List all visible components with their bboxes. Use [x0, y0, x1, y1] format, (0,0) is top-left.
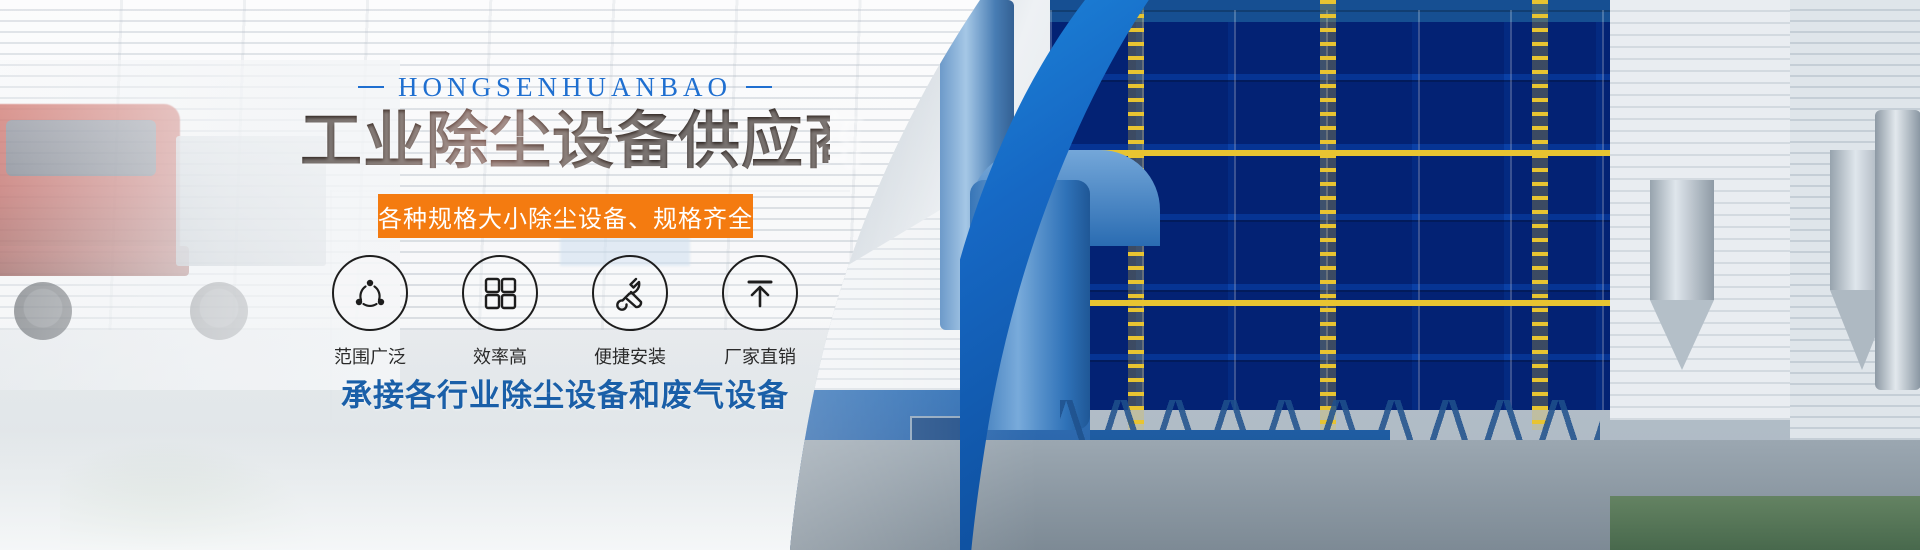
- grid-four-squares-icon: [462, 255, 538, 331]
- eyebrow-dash-right: [746, 86, 772, 88]
- tagline-text: 承接各行业除尘设备和废气设备: [300, 370, 830, 415]
- banner-content: HONGSENHUANBAO 工业除尘设备供应商 各种规格大小除尘设备、规格齐全: [0, 0, 1000, 550]
- feature-label: 厂家直销: [724, 343, 796, 369]
- feature-list: 范围广泛 效率高: [300, 255, 830, 369]
- feature-item-installation[interactable]: 便捷安装: [587, 255, 673, 369]
- wrench-icon: [592, 255, 668, 331]
- eyebrow-dash-left: [358, 86, 384, 88]
- eyebrow-line: HONGSENHUANBAO: [330, 72, 800, 103]
- feature-item-scope[interactable]: 范围广泛: [327, 255, 413, 369]
- feature-label: 效率高: [473, 343, 527, 369]
- orange-bar-text: 各种规格大小除尘设备、规格齐全: [378, 199, 753, 234]
- feature-item-efficiency[interactable]: 效率高: [457, 255, 543, 369]
- arrow-up-bar-icon: [722, 255, 798, 331]
- banner-stage: HONGSENHUANBAO 工业除尘设备供应商 各种规格大小除尘设备、规格齐全: [0, 0, 1920, 550]
- orange-highlight-bar: 各种规格大小除尘设备、规格齐全: [378, 194, 753, 238]
- feature-label: 便捷安装: [594, 343, 666, 369]
- feature-label: 范围广泛: [334, 343, 406, 369]
- feature-item-direct-sales[interactable]: 厂家直销: [717, 255, 803, 369]
- share-nodes-icon: [332, 255, 408, 331]
- page-title: 工业除尘设备供应商: [300, 108, 830, 173]
- eyebrow-text: HONGSENHUANBAO: [398, 72, 732, 102]
